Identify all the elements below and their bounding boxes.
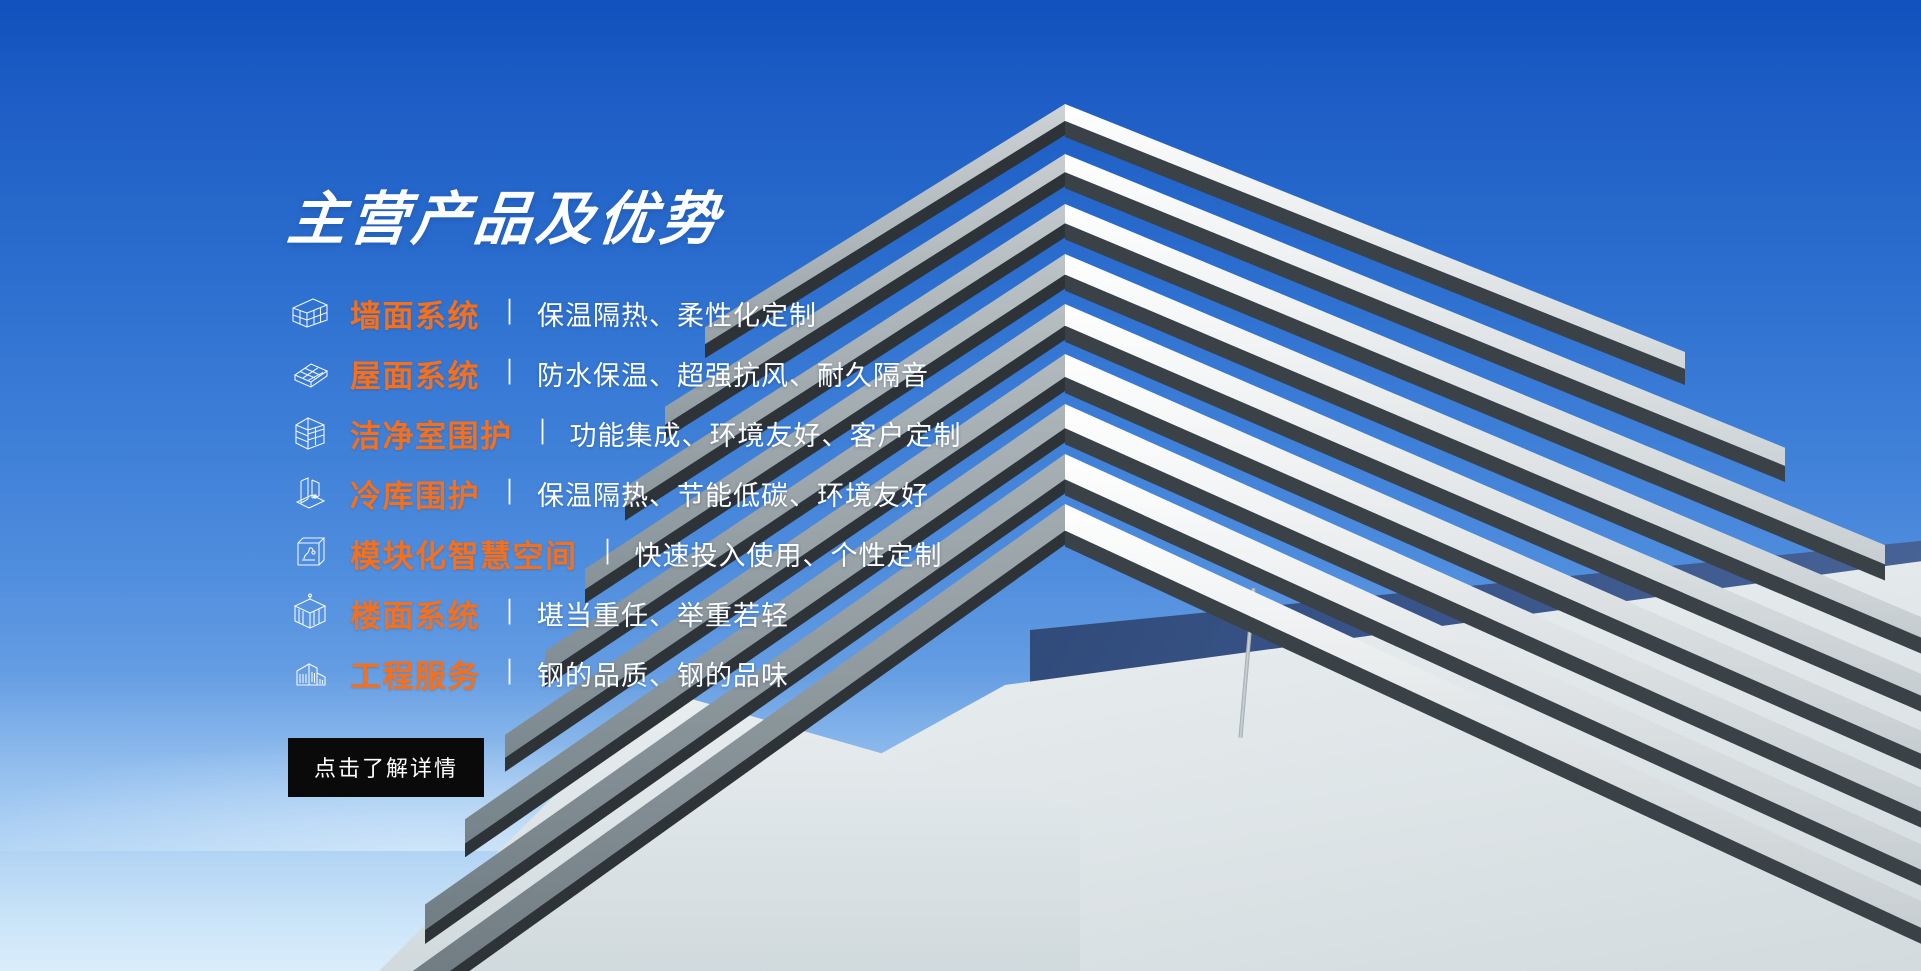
feature-name: 模块化智慧空间 (350, 531, 578, 576)
wall-panel-icon (288, 291, 332, 335)
feature-row[interactable]: 冷库围护丨保温隔热、节能低碳、环境友好 (288, 464, 1128, 522)
feature-separator: 丨 (502, 300, 517, 327)
feature-row[interactable]: 工程服务丨钢的品质、钢的品味 (288, 644, 1128, 702)
feature-separator: 丨 (502, 600, 517, 627)
feature-list: 墙面系统丨保温隔热、柔性化定制屋面系统丨防水保温、超强抗风、耐久隔音洁净室围护丨… (288, 284, 1128, 702)
feature-name: 墙面系统 (350, 291, 480, 336)
feature-separator: 丨 (502, 360, 517, 387)
cold-storage-icon (288, 471, 332, 515)
banner-content: 主营产品及优势 墙面系统丨保温隔热、柔性化定制屋面系统丨防水保温、超强抗风、耐久… (288, 190, 1128, 797)
feature-separator: 丨 (600, 540, 615, 567)
feature-separator: 丨 (535, 420, 550, 447)
cleanroom-icon (288, 411, 332, 455)
feature-description: 防水保温、超强抗风、耐久隔音 (537, 354, 929, 393)
feature-row[interactable]: 墙面系统丨保温隔热、柔性化定制 (288, 284, 1128, 342)
product-advantages-banner: 主营产品及优势 墙面系统丨保温隔热、柔性化定制屋面系统丨防水保温、超强抗风、耐久… (0, 0, 1921, 971)
feature-separator: 丨 (502, 660, 517, 687)
feature-description: 保温隔热、节能低碳、环境友好 (537, 474, 929, 513)
feature-description: 功能集成、环境友好、客户定制 (570, 414, 962, 453)
feature-separator: 丨 (502, 480, 517, 507)
feature-row[interactable]: 楼面系统丨堪当重任、举重若轻 (288, 584, 1128, 642)
learn-more-button[interactable]: 点击了解详情 (288, 738, 484, 797)
feature-name: 洁净室围护 (350, 411, 513, 456)
page-title: 主营产品及优势 (285, 190, 1131, 248)
feature-description: 保温隔热、柔性化定制 (537, 294, 817, 333)
feature-row[interactable]: 屋面系统丨防水保温、超强抗风、耐久隔音 (288, 344, 1128, 402)
engineering-svc-icon (288, 651, 332, 695)
feature-name: 屋面系统 (350, 351, 480, 396)
floor-deck-icon (288, 591, 332, 635)
feature-name: 楼面系统 (350, 591, 480, 636)
modular-space-icon (288, 531, 332, 575)
feature-row[interactable]: 洁净室围护丨功能集成、环境友好、客户定制 (288, 404, 1128, 462)
roof-panel-icon (288, 351, 332, 395)
feature-description: 钢的品质、钢的品味 (537, 654, 789, 693)
feature-description: 快速投入使用、个性定制 (635, 534, 943, 573)
feature-name: 冷库围护 (350, 471, 480, 516)
feature-description: 堪当重任、举重若轻 (537, 594, 789, 633)
feature-row[interactable]: 模块化智慧空间丨快速投入使用、个性定制 (288, 524, 1128, 582)
feature-name: 工程服务 (350, 651, 480, 696)
